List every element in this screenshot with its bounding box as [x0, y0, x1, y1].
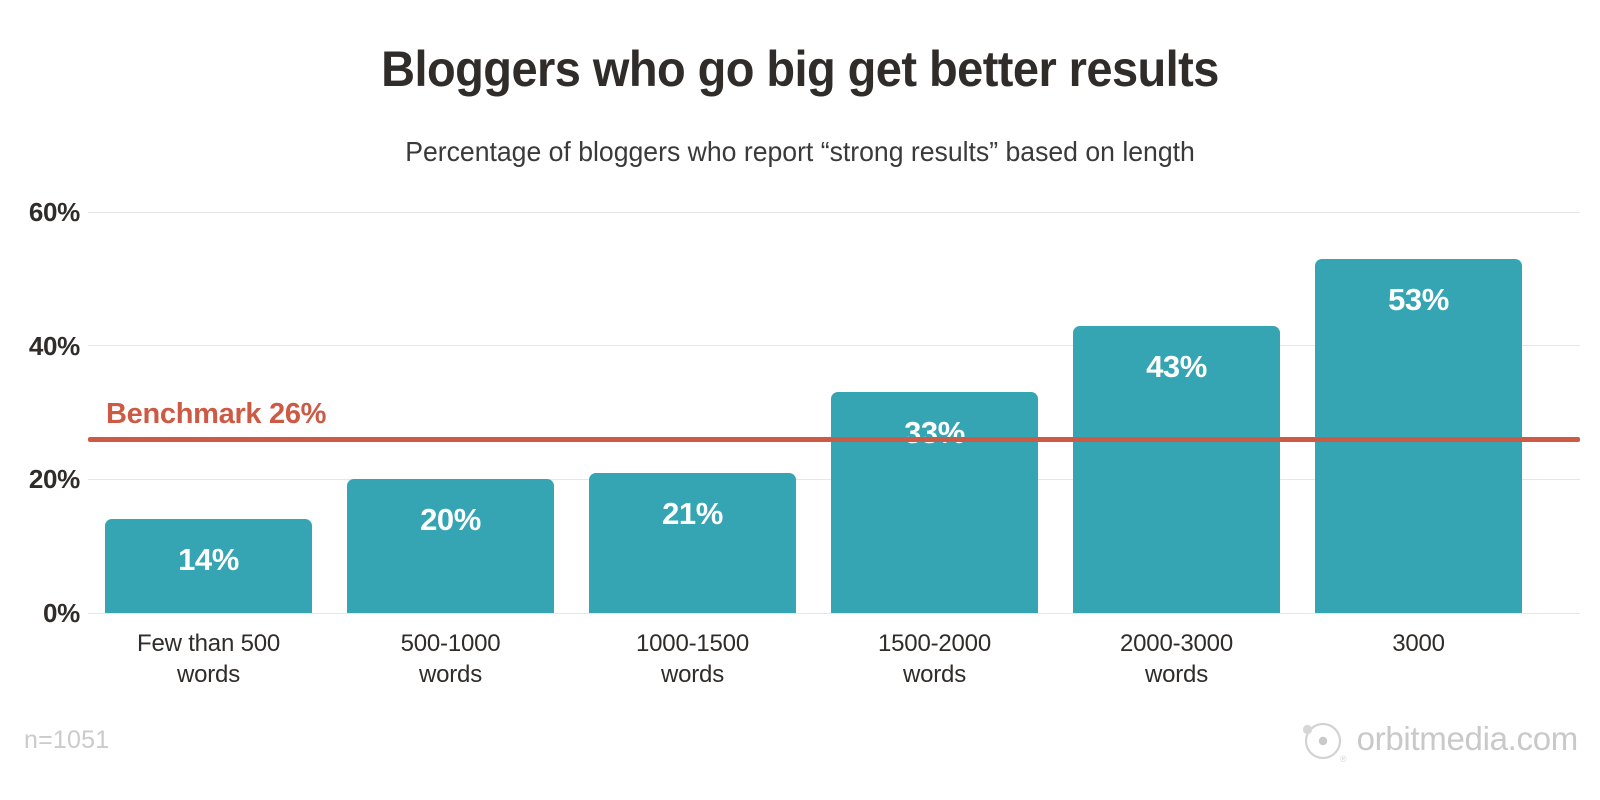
bar-1[interactable]	[347, 479, 554, 613]
benchmark-label: Benchmark 26%	[106, 400, 326, 429]
category-label-line1: 2000-3000	[1120, 630, 1233, 657]
x-axis-category-label: 3000	[1298, 628, 1539, 659]
x-axis-category-label: Few than 500words	[88, 628, 329, 690]
sample-size-note: n=1051	[24, 725, 109, 755]
y-axis-tick-label: 60%	[0, 199, 80, 225]
category-label-line2: words	[88, 659, 329, 690]
bar-value-label: 14%	[105, 544, 312, 575]
benchmark-line	[88, 437, 1580, 442]
bar-value-label: 43%	[1073, 351, 1280, 382]
gridline-60pct	[88, 212, 1580, 213]
registered-trademark-mark: ®	[1340, 754, 1347, 764]
x-axis-category-label: 500-1000words	[330, 628, 571, 690]
category-label-line2: words	[572, 659, 813, 690]
category-label-line1: 3000	[1392, 630, 1445, 657]
category-label-line2: words	[330, 659, 571, 690]
x-axis-category-label: 1000-1500words	[572, 628, 813, 690]
brand-logo: ® orbitmedia.com	[1299, 716, 1578, 762]
bar-value-label: 33%	[831, 417, 1038, 448]
category-label-line2: words	[1056, 659, 1297, 690]
orbit-icon: ®	[1299, 716, 1345, 762]
bar-value-label: 53%	[1315, 284, 1522, 315]
plot-area: 0%20%40%60%14%Few than 500words20%500-10…	[0, 0, 1600, 800]
bar-value-label: 21%	[589, 498, 796, 529]
brand-name: orbitmedia.com	[1357, 721, 1578, 757]
y-axis-tick-label: 40%	[0, 333, 80, 359]
y-axis-tick-label: 20%	[0, 466, 80, 492]
category-label-line1: 500-1000	[401, 630, 501, 657]
bar-2[interactable]	[589, 473, 796, 613]
x-axis-category-label: 1500-2000words	[814, 628, 1055, 690]
category-label-line1: 1000-1500	[636, 630, 749, 657]
category-label-line1: Few than 500	[137, 630, 280, 657]
x-axis-category-label: 2000-3000words	[1056, 628, 1297, 690]
category-label-line1: 1500-2000	[878, 630, 991, 657]
chart-canvas: Bloggers who go big get better results P…	[0, 0, 1600, 800]
category-label-line2: words	[814, 659, 1055, 690]
y-axis-tick-label: 0%	[0, 600, 80, 626]
bar-value-label: 20%	[347, 504, 554, 535]
